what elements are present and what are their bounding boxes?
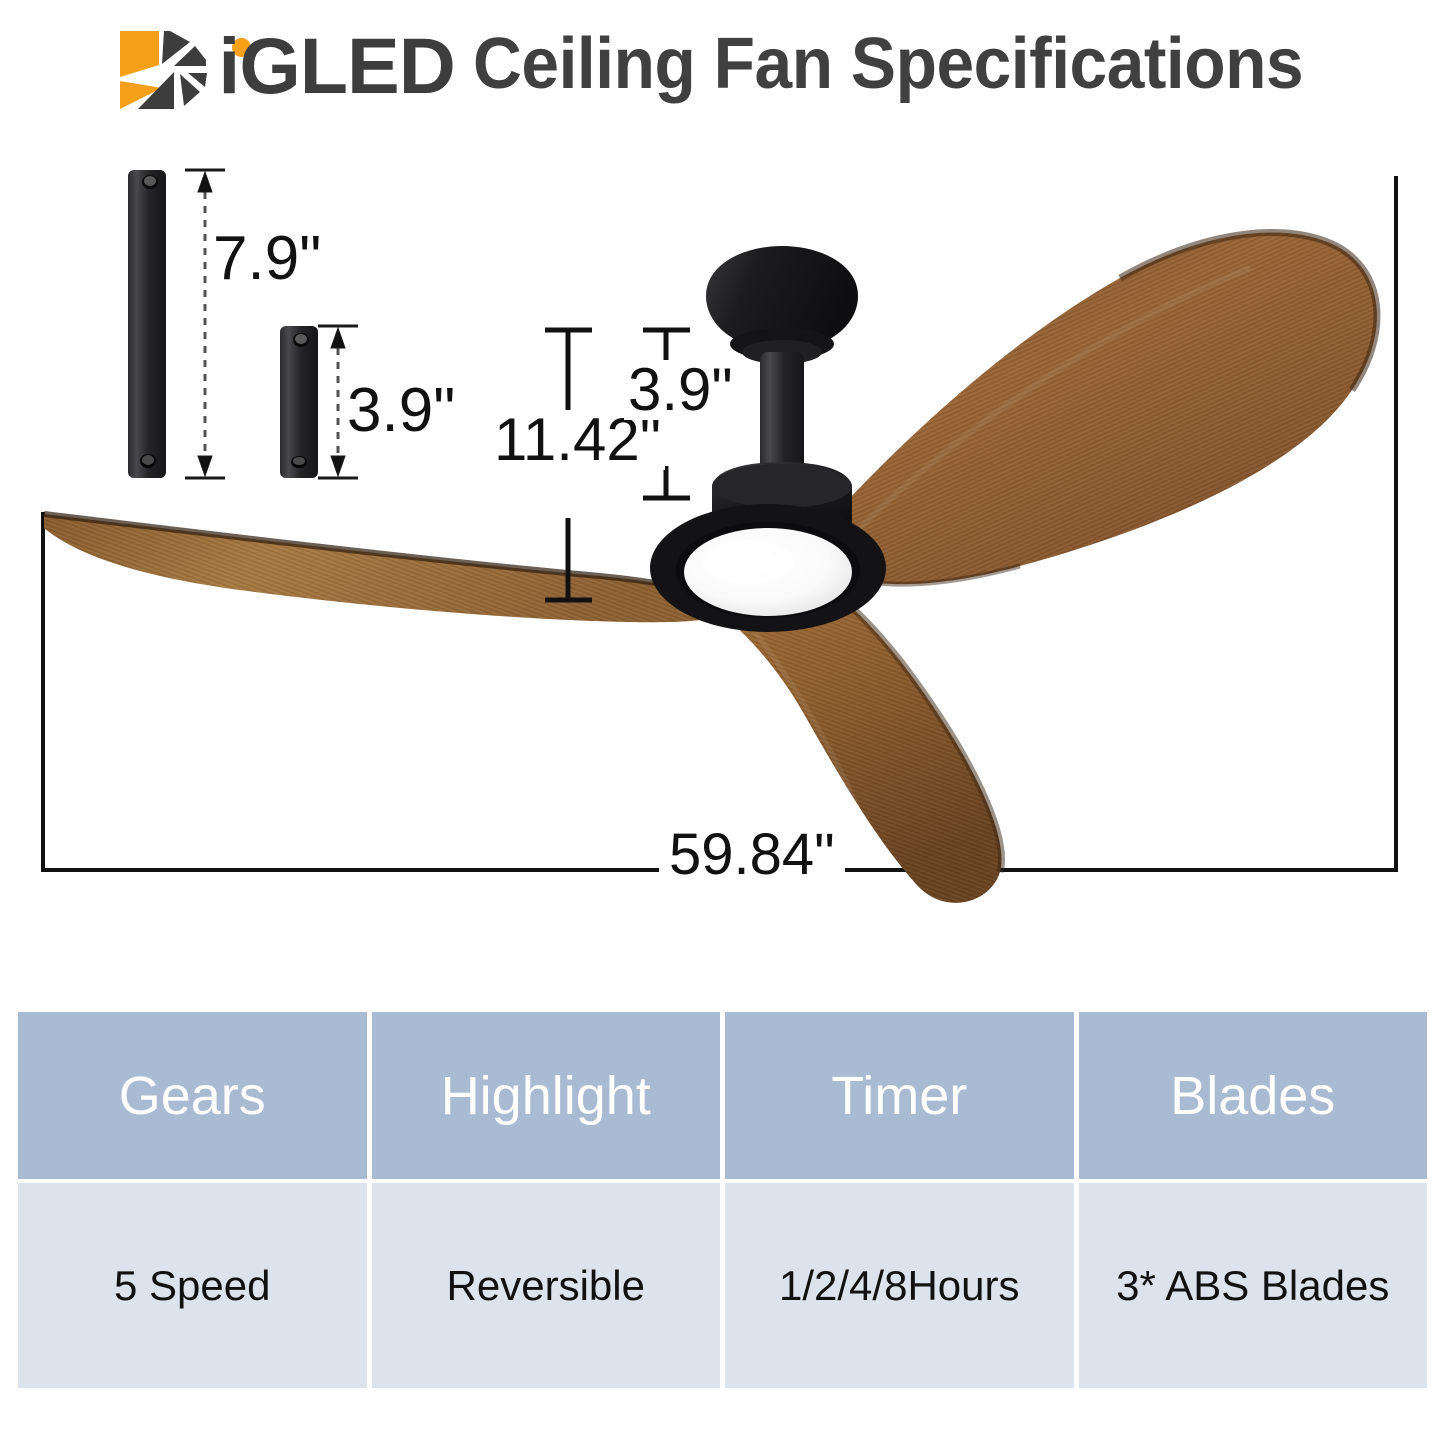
digled-aperture-logo-icon xyxy=(118,30,222,110)
table-header-timer: Timer xyxy=(725,1012,1074,1179)
dimension-label-blade-span: 59.84" xyxy=(659,826,845,884)
table-value-timer: 1/2/4/8Hours xyxy=(725,1183,1074,1388)
downrod-short-part xyxy=(280,326,318,478)
dimension-line-7-9 xyxy=(185,170,225,478)
table-header-blades: Blades xyxy=(1079,1012,1428,1179)
table-value-blades: 3* ABS Blades xyxy=(1079,1183,1428,1388)
dimension-label-downrod-short: 3.9" xyxy=(342,380,460,442)
table-header-highlight: Highlight xyxy=(372,1012,721,1179)
ceiling-canopy xyxy=(706,246,858,364)
fan-downrod xyxy=(760,352,804,480)
brand-logo: iGLED xyxy=(110,16,465,112)
ceiling-fan-dimension-diagram: 7.9" 3.9" 11.42" 3.9" 59.84" xyxy=(0,128,1445,988)
table-header-row: Gears Highlight Timer Blades xyxy=(18,1012,1427,1179)
dimension-label-downrod-drop: 3.9" xyxy=(624,360,737,420)
table-header-gears: Gears xyxy=(18,1012,367,1179)
led-light-disc xyxy=(650,504,886,632)
page-header: iGLED Ceiling Fan Specifications xyxy=(0,0,1445,128)
table-value-gears: 5 Speed xyxy=(18,1183,367,1388)
dimension-label-downrod-long: 7.9" xyxy=(208,228,326,290)
blade-left xyxy=(44,514,700,622)
specification-table: Gears Highlight Timer Blades 5 Speed Rev… xyxy=(18,1012,1427,1388)
table-value-row: 5 Speed Reversible 1/2/4/8Hours 3* ABS B… xyxy=(18,1183,1427,1388)
table-value-highlight: Reversible xyxy=(372,1183,721,1388)
blade-top-right xyxy=(835,233,1377,585)
downrod-long-part xyxy=(128,170,166,478)
page-title: Ceiling Fan Specifications xyxy=(473,23,1303,105)
brand-wordmark: iGLED xyxy=(218,22,454,110)
